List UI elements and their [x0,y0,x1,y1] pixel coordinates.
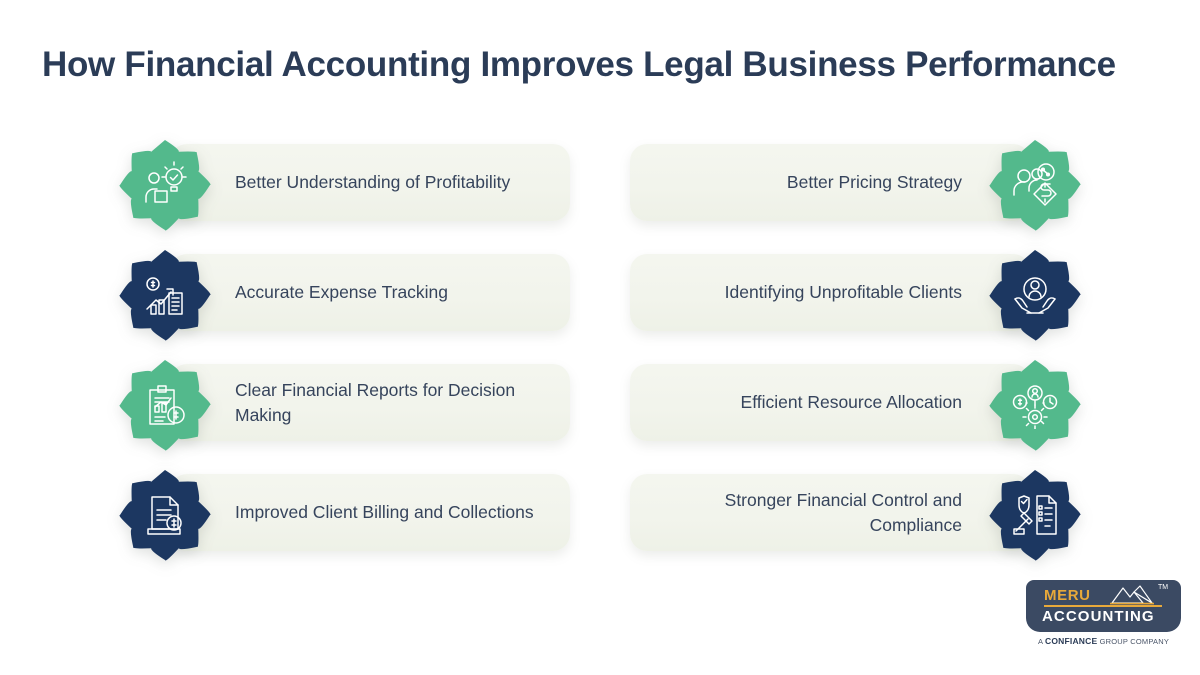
feature-card[interactable]: Improved Client Billing and Collections [170,474,570,551]
feature-icon-badge [988,468,1082,562]
feature-card[interactable]: Clear Financial Reports for Decision Mak… [170,364,570,441]
tagline-suffix: GROUP COMPANY [1097,637,1169,646]
feature-card[interactable]: Better Understanding of Profitability [170,144,570,221]
coin-growth-chart-document-icon [141,271,189,319]
feature-card[interactable]: Better Pricing Strategy [630,144,1030,221]
feature-icon-badge [118,468,212,562]
feature-label: Accurate Expense Tracking [235,280,448,305]
invoice-dollar-icon [141,491,189,539]
logo-name-top: MERU [1044,587,1091,604]
tagline-prefix: A [1038,637,1045,646]
feature-label: Improved Client Billing and Collections [235,500,534,525]
gear-dollar-clock-person-icon [1011,381,1059,429]
feature-row: Accurate Expense Tracking [110,248,570,358]
feature-icon-badge [988,248,1082,342]
feature-row: Identifying Unprofitable Clients [630,248,1090,358]
feature-card[interactable]: Stronger Financial Control and Complianc… [630,474,1030,551]
feature-row: Stronger Financial Control and Complianc… [630,468,1090,578]
left-column: Better Understanding of ProfitabilityAcc… [110,138,570,578]
feature-label: Efficient Resource Allocation [741,390,962,415]
feature-icon-badge [118,138,212,232]
feature-row: Better Understanding of Profitability [110,138,570,248]
feature-label: Better Pricing Strategy [787,170,962,195]
feature-icon-badge [988,358,1082,452]
logo-plate: MERU TM ACCOUNTING [1026,580,1181,632]
logo-trademark: TM [1158,584,1168,591]
feature-icon-badge [118,358,212,452]
logo-tagline: A CONFIANCE GROUP COMPANY [1026,636,1181,646]
feature-card[interactable]: Identifying Unprofitable Clients [630,254,1030,331]
feature-card[interactable]: Efficient Resource Allocation [630,364,1030,441]
feature-label: Better Understanding of Profitability [235,170,510,195]
feature-label: Identifying Unprofitable Clients [725,280,962,305]
people-percent-price-tag-icon [1011,161,1059,209]
tagline-brand: CONFIANCE [1045,636,1097,646]
feature-row: Improved Client Billing and Collections [110,468,570,578]
feature-label: Stronger Financial Control and Complianc… [662,488,962,538]
feature-label: Clear Financial Reports for Decision Mak… [235,378,535,428]
meru-accounting-logo: MERU TM ACCOUNTING A CONFIANCE GROUP COM… [1026,580,1181,646]
feature-row: Better Pricing Strategy [630,138,1090,248]
page-title: How Financial Accounting Improves Legal … [42,44,1172,85]
mountain-peaks-icon [1110,584,1154,606]
slide-canvas: How Financial Accounting Improves Legal … [0,0,1200,675]
right-column: Better Pricing StrategyIdentifying Unpro… [630,138,1090,578]
feature-icon-badge [988,138,1082,232]
feature-row: Efficient Resource Allocation [630,358,1090,468]
feature-icon-badge [118,248,212,342]
shield-gavel-document-icon [1011,491,1059,539]
clipboard-report-dollar-icon [141,381,189,429]
person-in-hands-icon [1011,271,1059,319]
logo-name-bottom: ACCOUNTING [1042,608,1155,625]
feature-card[interactable]: Accurate Expense Tracking [170,254,570,331]
person-lightbulb-check-icon [141,161,189,209]
feature-row: Clear Financial Reports for Decision Mak… [110,358,570,468]
